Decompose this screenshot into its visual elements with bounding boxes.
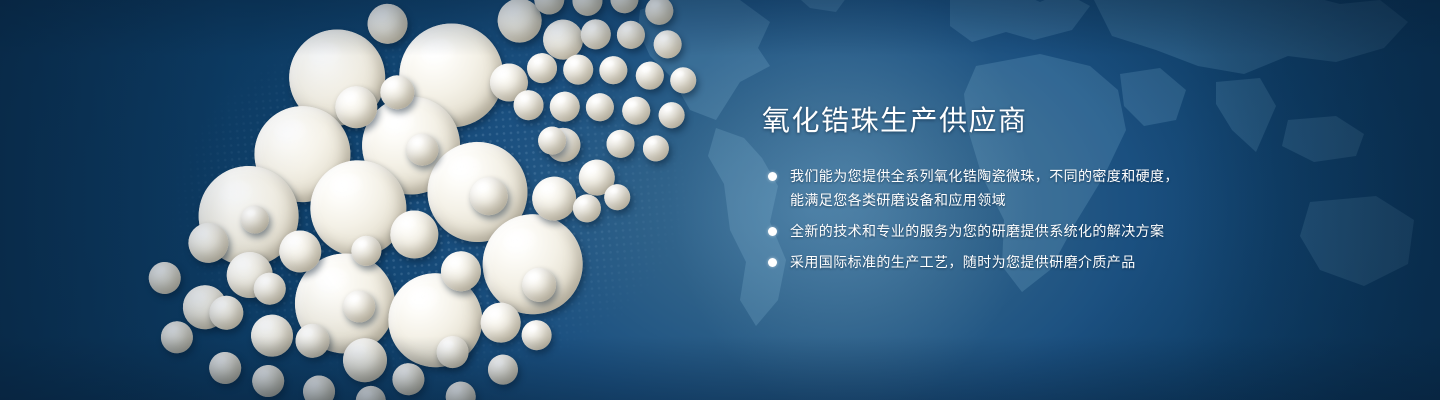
list-item-line: 全新的技术和专业的服务为您的研磨提供系统化的解决方案 <box>790 219 1222 243</box>
bullet-dot-icon <box>768 258 777 267</box>
list-item-line: 采用国际标准的生产工艺，随时为您提供研磨介质产品 <box>790 250 1222 274</box>
list-item: 我们能为您提供全系列氧化锆陶瓷微珠，不同的密度和硬度， 能满足您各类研磨设备和应… <box>762 164 1222 212</box>
bullet-dot-icon <box>768 227 777 236</box>
list-item: 采用国际标准的生产工艺，随时为您提供研磨介质产品 <box>762 250 1222 274</box>
feature-list: 我们能为您提供全系列氧化锆陶瓷微珠，不同的密度和硬度， 能满足您各类研磨设备和应… <box>762 164 1222 274</box>
list-item-line: 我们能为您提供全系列氧化锆陶瓷微珠，不同的密度和硬度， <box>790 164 1222 188</box>
list-item: 全新的技术和专业的服务为您的研磨提供系统化的解决方案 <box>762 219 1222 243</box>
banner-copy: 氧化锆珠生产供应商 我们能为您提供全系列氧化锆陶瓷微珠，不同的密度和硬度， 能满… <box>762 104 1222 281</box>
list-item-line: 能满足您各类研磨设备和应用领域 <box>790 188 1222 212</box>
background-edge-shading <box>0 0 1440 400</box>
bullet-dot-icon <box>768 172 777 181</box>
banner-headline: 氧化锆珠生产供应商 <box>762 104 1222 138</box>
hero-banner: 氧化锆珠生产供应商 我们能为您提供全系列氧化锆陶瓷微珠，不同的密度和硬度， 能满… <box>0 0 1440 400</box>
